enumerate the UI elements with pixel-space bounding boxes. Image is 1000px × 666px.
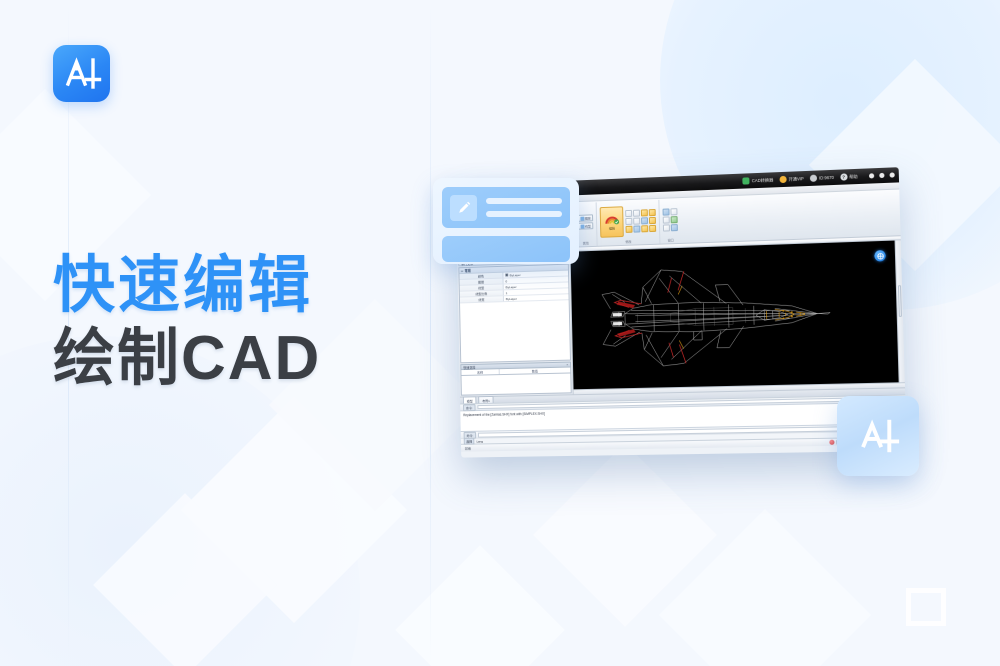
floating-card-line — [486, 198, 562, 204]
titlebar-action-converter[interactable]: CAD转换器 — [743, 176, 774, 184]
tab-layout1[interactable]: 布局1 — [478, 396, 493, 403]
duplicate-icon[interactable] — [649, 216, 656, 223]
tab-model[interactable]: 模型 — [463, 396, 477, 403]
floating-logo-card — [837, 396, 919, 476]
linetype-icon — [580, 224, 584, 228]
edit-attribute-icon[interactable] — [649, 224, 656, 231]
maximize-icon[interactable] — [879, 173, 884, 178]
headline-line-2: 绘制CAD — [53, 326, 321, 393]
quick-select-body[interactable] — [461, 373, 572, 395]
ribbon-group-window-body[interactable] — [662, 200, 678, 238]
panel-close-icon[interactable]: × — [566, 363, 568, 367]
help-icon: ? — [840, 173, 847, 180]
break-icon[interactable] — [633, 209, 640, 216]
quick-select-panel[interactable]: 快速选择 × 名称 数值 — [460, 362, 571, 396]
drawing-canvas[interactable] — [570, 241, 898, 390]
floating-card-top — [442, 187, 570, 228]
fighter-jet-wireframe — [570, 241, 898, 390]
user-icon — [810, 175, 817, 182]
color-swatch — [505, 274, 508, 277]
ribbon-group-window-label: 窗口 — [668, 238, 674, 243]
titlebar-action-label: 帮助 — [849, 173, 858, 179]
A-plus-logo-icon — [850, 408, 906, 464]
layer-label: 图层 — [585, 216, 591, 220]
delete-icon[interactable] — [625, 209, 632, 216]
A-plus-logo-icon — [53, 45, 110, 102]
edit-hatch-icon[interactable] — [641, 225, 648, 232]
background-diamond — [395, 545, 565, 666]
cad-title-bar-actions: CAD转换器 开通VIP ID:9670 ? 帮助 — [743, 171, 895, 184]
floating-card-bottom-bar — [442, 236, 570, 262]
floating-card-line — [486, 211, 562, 217]
expand-icon[interactable]: ⊟ — [461, 269, 463, 273]
canvas-row — [570, 240, 904, 389]
converter-icon — [743, 177, 750, 184]
crown-icon — [779, 176, 786, 183]
snap-toggle-icon[interactable] — [829, 440, 834, 445]
modify-primary-label: 编辑 — [609, 225, 615, 230]
cad-canvas-area[interactable] — [570, 236, 905, 394]
modify-icon-grid[interactable] — [625, 208, 656, 232]
lock-icon[interactable] — [671, 224, 678, 231]
lengthen-icon[interactable] — [625, 217, 632, 224]
view-cube-glyph — [876, 252, 884, 260]
promo-banner: 快速编辑 绘制CAD — [0, 0, 1000, 666]
background-band — [430, 0, 431, 666]
status-message: 就绪 — [465, 446, 471, 451]
titlebar-action-label: 开通VIP — [788, 176, 803, 183]
selection-label: 选择 — [464, 438, 475, 445]
edit-polyline-icon[interactable] — [626, 225, 633, 232]
column-header-name: 名称 — [461, 369, 499, 375]
property-value[interactable]: ByLayer — [504, 294, 569, 301]
explode-icon[interactable] — [649, 208, 656, 215]
command-prompt-label: 命令: — [463, 404, 476, 411]
titlebar-user-id[interactable]: ID:9670 — [810, 174, 834, 182]
edit-spline-icon[interactable] — [633, 225, 640, 232]
layer-icon — [580, 216, 584, 220]
floating-card-lines — [486, 198, 562, 217]
titlebar-action-label: ID:9670 — [819, 175, 834, 181]
linetype-button[interactable]: 线型 — [578, 222, 594, 229]
brand-logo — [53, 45, 110, 102]
copy-window-icon[interactable] — [663, 224, 670, 231]
titlebar-action-label: CAD转换器 — [752, 177, 774, 184]
titlebar-action-vip[interactable]: 开通VIP — [779, 175, 804, 183]
join-icon[interactable] — [641, 209, 648, 216]
close-window-icon[interactable] — [670, 208, 677, 215]
cut-icon[interactable] — [663, 216, 670, 223]
ribbon-group-properties-body[interactable]: 图层 线型 — [577, 203, 593, 241]
properties-category-label: 常规 — [465, 268, 471, 273]
titlebar-action-help[interactable]: ? 帮助 — [840, 173, 858, 181]
new-window-icon[interactable] — [663, 208, 670, 215]
rainbow-arc-icon — [604, 213, 619, 224]
quick-select-title: 快速选择 — [463, 364, 475, 369]
property-key: 线宽 — [460, 296, 504, 302]
property-buttons-column[interactable]: 图层 线型 — [577, 214, 593, 230]
layer-button[interactable]: 图层 — [577, 214, 593, 221]
pencil-edit-icon — [450, 195, 477, 221]
floating-edit-card — [433, 178, 579, 264]
properties-table[interactable]: ⊟ 常规 颜色 ByLayer 图层 0 — [458, 264, 571, 364]
ribbon-group-modify[interactable]: 编辑 — [597, 200, 661, 246]
selection-value: Lang — [476, 439, 483, 443]
ribbon-group-properties-label: 属性 — [583, 241, 589, 246]
linetype-label: 线型 — [585, 224, 591, 228]
pencil-glyph — [456, 200, 472, 216]
modify-primary-button[interactable]: 编辑 — [600, 206, 624, 238]
window-icon-grid[interactable] — [663, 208, 678, 231]
minimize-icon[interactable] — [869, 173, 874, 178]
ribbon-group-modify-body[interactable]: 编辑 — [600, 201, 657, 241]
ribbon-group-window[interactable]: 窗口 — [659, 199, 681, 244]
paste-icon[interactable] — [671, 216, 678, 223]
smooth-icon[interactable] — [641, 217, 648, 224]
scrollbar-thumb[interactable] — [898, 286, 902, 317]
page-title: 快速编辑 绘制CAD — [53, 253, 321, 393]
close-icon[interactable] — [890, 172, 895, 177]
property-value: ByLayer — [510, 273, 521, 277]
ribbon-group-modify-label: 修改 — [625, 240, 631, 245]
window-controls[interactable] — [869, 172, 895, 178]
align-icon[interactable] — [633, 217, 640, 224]
headline-line-1: 快速编辑 — [53, 253, 321, 319]
properties-panel[interactable]: 属性 × 单行文本 ▾ ⊟ 常规 颜色 ByL — [457, 248, 574, 397]
background-square-outline — [906, 588, 946, 626]
